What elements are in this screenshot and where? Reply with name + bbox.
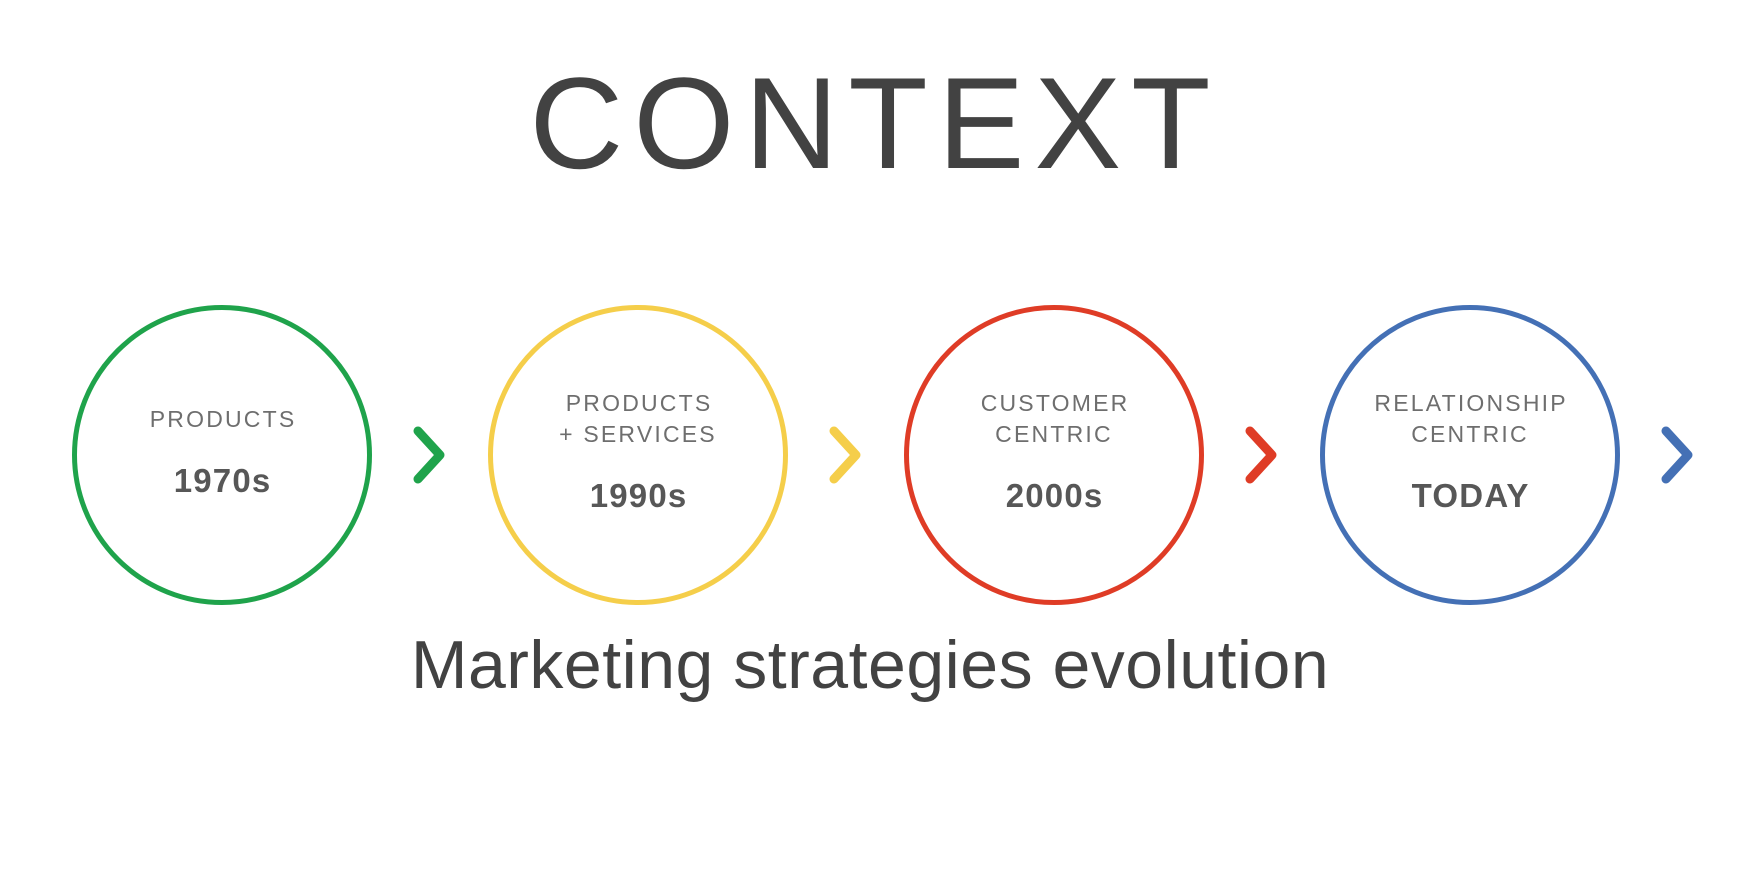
stage-label: PRODUCTS (148, 404, 297, 435)
slide-canvas: CONTEXT PRODUCTS 1970s PRODUCTS + SERVIC… (0, 0, 1740, 894)
stage-circle-relationship-centric[interactable]: RELATIONSHIP CENTRIC TODAY (1320, 305, 1620, 605)
stage-label: CUSTOMER CENTRIC (979, 388, 1130, 450)
stage-label: PRODUCTS + SERVICES (559, 388, 717, 450)
stage-circle-products[interactable]: PRODUCTS 1970s (72, 305, 372, 605)
stage-year: 2000s (1005, 478, 1104, 514)
progression-flow: PRODUCTS 1970s PRODUCTS + SERVICES 1990s… (0, 300, 1740, 610)
chevron-right-icon (1204, 425, 1320, 485)
page-title: CONTEXT (0, 58, 1740, 188)
stage-content: RELATIONSHIP CENTRIC TODAY (1372, 388, 1568, 514)
stage-year: TODAY (1410, 478, 1529, 514)
stage-year: 1970s (173, 463, 272, 499)
stage-content: PRODUCTS + SERVICES 1990s (559, 388, 717, 514)
stage-year: 1990s (589, 478, 688, 514)
stage-content: CUSTOMER CENTRIC 2000s (979, 388, 1130, 514)
chevron-right-icon (788, 425, 904, 485)
stage-label: RELATIONSHIP CENTRIC (1372, 388, 1568, 450)
stage-content: PRODUCTS 1970s (148, 404, 297, 499)
page-caption: Marketing strategies evolution (0, 620, 1740, 710)
stage-circle-customer-centric[interactable]: CUSTOMER CENTRIC 2000s (904, 305, 1204, 605)
chevron-right-icon (372, 425, 488, 485)
stage-circle-products-services[interactable]: PRODUCTS + SERVICES 1990s (488, 305, 788, 605)
chevron-right-icon (1620, 425, 1736, 485)
